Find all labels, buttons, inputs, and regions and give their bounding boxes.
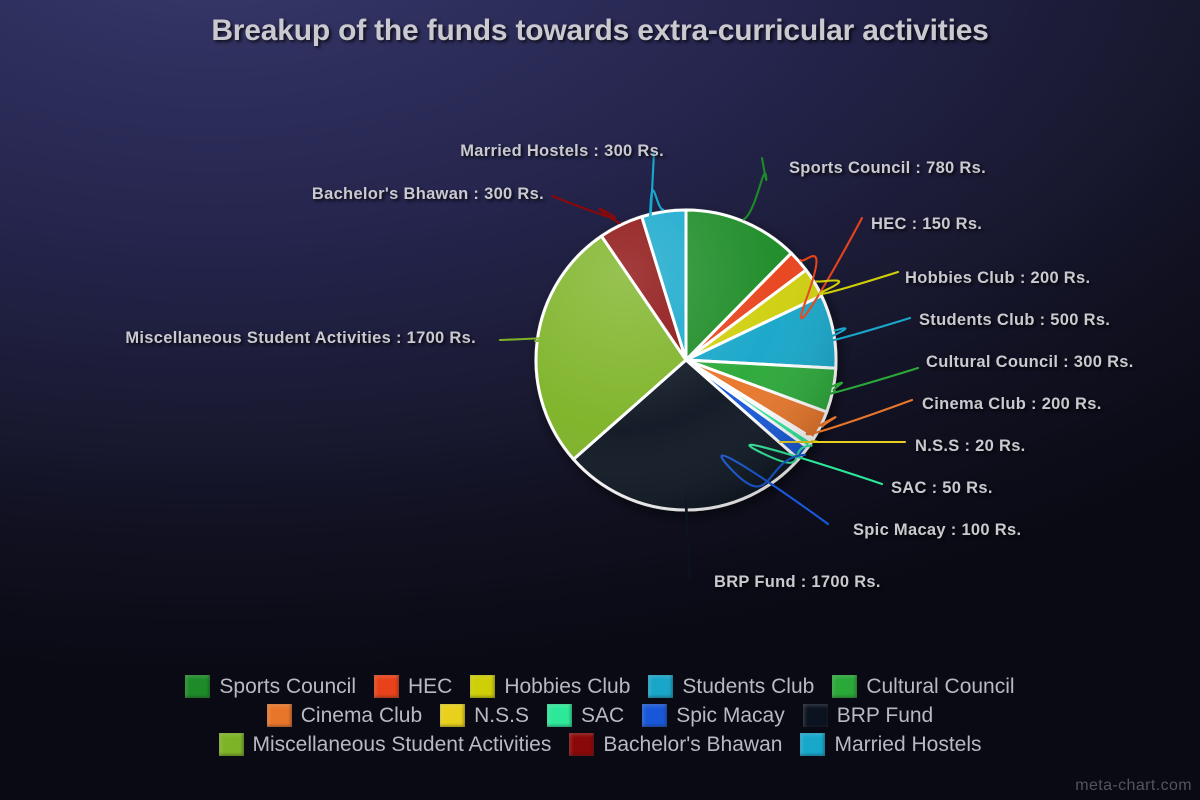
- callout-bachelors-bhawan: Bachelor's Bhawan : 300 Rs.: [312, 185, 544, 204]
- legend-swatch-icon: [219, 733, 244, 756]
- callout-miscellaneous-student-activities: Miscellaneous Student Activities : 1700 …: [125, 329, 476, 348]
- legend-item-label: Cinema Club: [301, 705, 422, 726]
- legend-swatch-icon: [374, 675, 399, 698]
- callout-cultural-council: Cultural Council : 300 Rs.: [926, 353, 1134, 372]
- legend-row: Cinema ClubN.S.SSACSpic MacayBRP Fund: [258, 701, 942, 730]
- pie-slices: [536, 210, 836, 510]
- legend-item-label: SAC: [581, 705, 624, 726]
- leader-line: [780, 441, 905, 442]
- legend-item-cultural-council[interactable]: Cultural Council: [832, 675, 1014, 698]
- legend-item-spic-macay[interactable]: Spic Macay: [642, 704, 785, 727]
- legend-item-sac[interactable]: SAC: [547, 704, 624, 727]
- callout-students-club: Students Club : 500 Rs.: [919, 311, 1110, 330]
- callout-brp-fund: BRP Fund : 1700 Rs.: [714, 573, 881, 592]
- callout-hobbies-club: Hobbies Club : 200 Rs.: [905, 269, 1090, 288]
- legend-swatch-icon: [569, 733, 594, 756]
- legend-swatch-icon: [803, 704, 828, 727]
- watermark: meta-chart.com: [1075, 777, 1192, 795]
- legend-item-label: BRP Fund: [837, 705, 934, 726]
- callout-sac: SAC : 50 Rs.: [891, 479, 993, 498]
- legend-swatch-icon: [470, 675, 495, 698]
- legend-item-label: Sports Council: [219, 676, 356, 697]
- legend-swatch-icon: [832, 675, 857, 698]
- callout-cinema-club: Cinema Club : 200 Rs.: [922, 395, 1102, 414]
- callout-spic-macay: Spic Macay : 100 Rs.: [853, 521, 1021, 540]
- legend-swatch-icon: [440, 704, 465, 727]
- leader-line: [744, 158, 767, 219]
- legend-item-hec[interactable]: HEC: [374, 675, 452, 698]
- callout-married-hostels: Married Hostels : 300 Rs.: [460, 142, 664, 161]
- legend-swatch-icon: [267, 704, 292, 727]
- legend-swatch-icon: [185, 675, 210, 698]
- legend-item-brp-fund[interactable]: BRP Fund: [803, 704, 934, 727]
- legend-row: Miscellaneous Student ActivitiesBachelor…: [210, 730, 991, 759]
- legend-item-hobbies-club[interactable]: Hobbies Club: [470, 675, 630, 698]
- legend-item-label: Cultural Council: [866, 676, 1014, 697]
- legend-swatch-icon: [642, 704, 667, 727]
- legend-row: Sports CouncilHECHobbies ClubStudents Cl…: [176, 672, 1023, 701]
- legend-item-label: Spic Macay: [676, 705, 785, 726]
- leader-line: [816, 272, 898, 294]
- legend-item-sports-council[interactable]: Sports Council: [185, 675, 356, 698]
- chart-legend: Sports CouncilHECHobbies ClubStudents Cl…: [0, 672, 1200, 759]
- callout-sports-council: Sports Council : 780 Rs.: [789, 159, 986, 178]
- legend-item-cinema-club[interactable]: Cinema Club: [267, 704, 422, 727]
- callout-nss: N.S.S : 20 Rs.: [915, 437, 1026, 456]
- legend-item-label: N.S.S: [474, 705, 529, 726]
- pie-chart-figure: Breakup of the funds towards extra-curri…: [0, 0, 1200, 800]
- legend-item-label: Married Hostels: [834, 734, 981, 755]
- legend-swatch-icon: [648, 675, 673, 698]
- legend-item-students-club[interactable]: Students Club: [648, 675, 814, 698]
- legend-item-label: Students Club: [682, 676, 814, 697]
- legend-item-label: Miscellaneous Student Activities: [253, 734, 552, 755]
- legend-item-n-s-s[interactable]: N.S.S: [440, 704, 529, 727]
- legend-item-label: Bachelor's Bhawan: [603, 734, 782, 755]
- legend-item-bachelor-s-bhawan[interactable]: Bachelor's Bhawan: [569, 733, 782, 756]
- legend-swatch-icon: [800, 733, 825, 756]
- legend-item-married-hostels[interactable]: Married Hostels: [800, 733, 981, 756]
- legend-item-miscellaneous-student-activities[interactable]: Miscellaneous Student Activities: [219, 733, 552, 756]
- leader-line: [552, 196, 620, 223]
- legend-item-label: HEC: [408, 676, 452, 697]
- callout-hec: HEC : 150 Rs.: [871, 215, 982, 234]
- legend-swatch-icon: [547, 704, 572, 727]
- legend-item-label: Hobbies Club: [504, 676, 630, 697]
